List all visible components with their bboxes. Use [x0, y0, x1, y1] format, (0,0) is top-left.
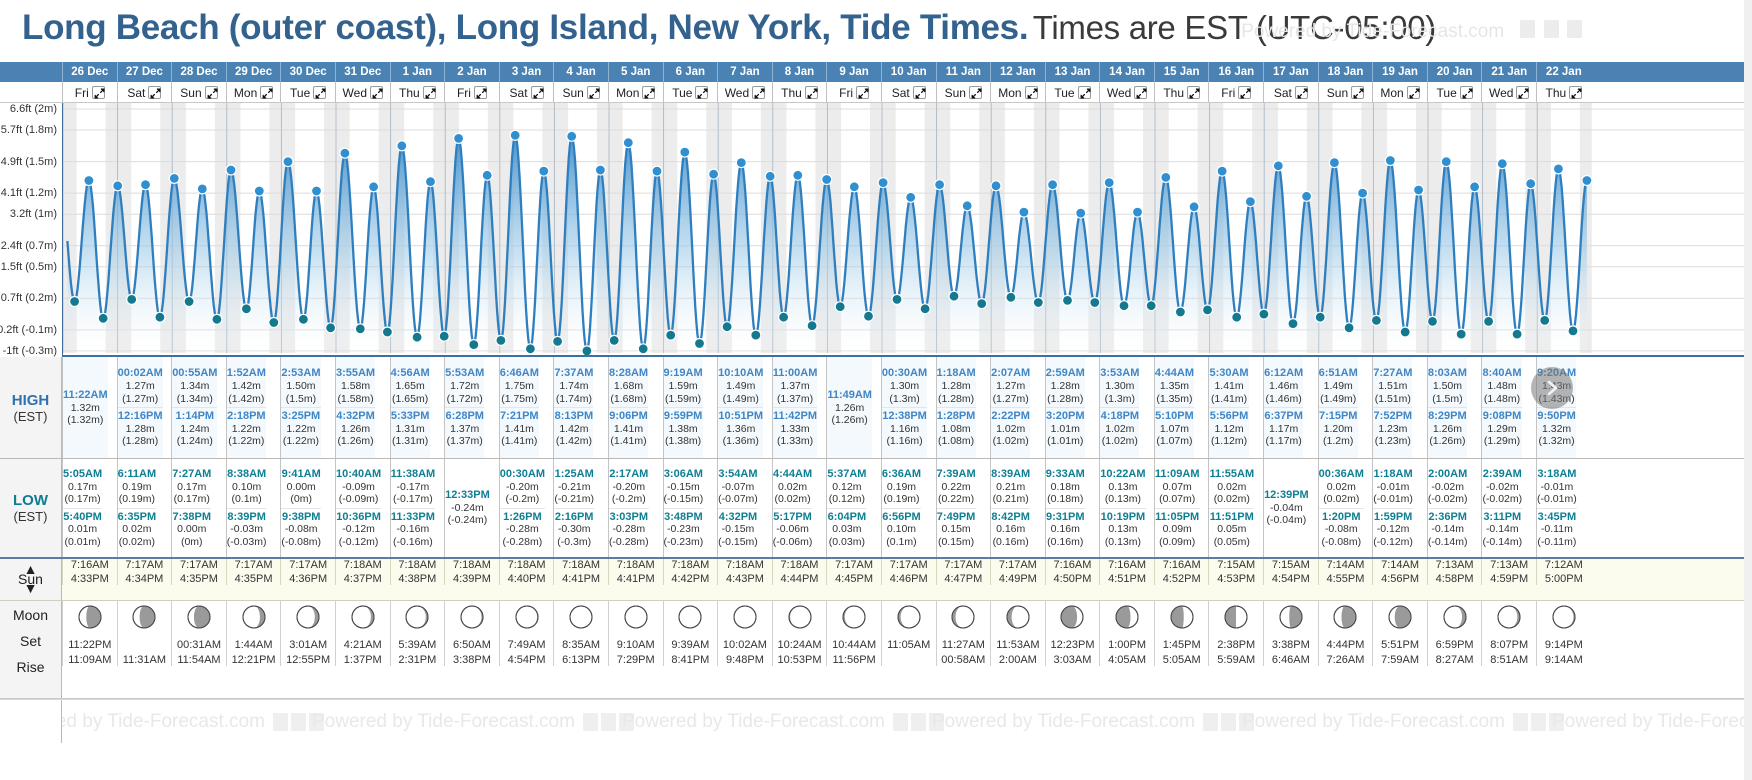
- date-header-cell[interactable]: 21 Jan: [1481, 62, 1536, 82]
- date-header-cell[interactable]: 10 Jan: [881, 62, 936, 82]
- expand-icon[interactable]: [92, 86, 105, 99]
- chart-y-tick-label: 5.7ft (1.8m): [1, 124, 57, 136]
- weekday-label: Tue: [290, 86, 310, 100]
- moon-phase-icon: [515, 605, 539, 629]
- expand-icon[interactable]: [1407, 86, 1420, 99]
- date-header-cell[interactable]: 27 Dec: [117, 62, 172, 82]
- low-tide-cell[interactable]: 2:39AM-0.02m(-0.02m)3:11PM-0.14m(-0.14m): [1481, 459, 1522, 557]
- weekday-label: Mon: [998, 86, 1021, 100]
- sun-cell: 7:18AM4:42PM: [663, 559, 718, 585]
- moon-phase-icon: [1224, 605, 1248, 629]
- high-tide-time: 00:02AM: [118, 367, 163, 380]
- date-header-cell[interactable]: 29 Dec: [226, 62, 281, 82]
- moonset-time: 9:14PM: [1545, 639, 1583, 651]
- high-tide-height: 1.28m: [118, 423, 163, 435]
- high-tide-cell[interactable]: 11:22AM1.32m(1.32m): [62, 357, 108, 458]
- weekday-label: Wed: [343, 86, 367, 100]
- high-column: 11:22AM1.32m(1.32m): [62, 357, 117, 458]
- low-tide-entry: 11:09AM0.07m(0.07m): [1155, 466, 1200, 508]
- expand-icon[interactable]: [1516, 86, 1529, 99]
- footer-watermark-text: Powered by Tide-Forecast.com: [932, 711, 1195, 733]
- expand-icon[interactable]: [1134, 86, 1147, 99]
- moon-phase-icon: [897, 605, 921, 629]
- expand-icon[interactable]: [695, 86, 708, 99]
- low-tide-entry: 9:38PM-0.08m(-0.08m): [281, 508, 321, 551]
- low-tide-height-alt: (-0.01m): [1373, 493, 1413, 505]
- weekday-header-cell[interactable]: Mon: [1372, 82, 1427, 102]
- high-tide-entry: 11:00AM1.37m(1.37m): [773, 365, 818, 407]
- high-tide-time: 5:53AM: [445, 367, 484, 380]
- low-tide-height-alt: (0m): [172, 536, 211, 548]
- high-tide-time: 10:10AM: [718, 367, 763, 380]
- sun-cell: 7:14AM4:56PM: [1372, 559, 1427, 585]
- expand-icon[interactable]: [423, 86, 436, 99]
- weekday-header-cell[interactable]: Fri: [444, 82, 499, 102]
- high-tide-time: 1:14PM: [172, 410, 217, 423]
- expand-icon[interactable]: [370, 86, 383, 99]
- high-tide-time: 1:28PM: [937, 410, 976, 423]
- weekday-column: Wed: [335, 82, 390, 102]
- low-tide-cell[interactable]: 6:36AM0.19m(0.19m)6:56PM0.10m(0.1m): [881, 459, 921, 557]
- low-tide-cell[interactable]: 00:36AM0.02m(0.02m)1:20PM-0.08m(-0.08m): [1318, 459, 1364, 557]
- moonset-time: 4:21AM: [344, 639, 382, 651]
- moon-phase-icon: [405, 605, 429, 629]
- expand-icon[interactable]: [642, 86, 655, 99]
- sun-cell: 7:18AM4:38PM: [390, 559, 445, 585]
- weekday-header-cell[interactable]: Fri: [62, 82, 117, 102]
- footer-watermark-text: Powered by Tide-Forecast.com: [622, 711, 885, 733]
- weekday-header-cell[interactable]: Sat: [1263, 82, 1318, 102]
- expand-icon[interactable]: [148, 86, 161, 99]
- weekday-label: Tue: [1054, 86, 1074, 100]
- high-tide-entry: 9:50PM1.32m(1.32m): [1537, 407, 1576, 450]
- moon-phase-icon: [733, 605, 757, 629]
- high-tide-time: 4:18PM: [1100, 410, 1139, 423]
- weekday-column: Sun: [936, 82, 991, 102]
- sun-cell: 7:17AM4:36PM: [280, 559, 335, 585]
- sun-column: 7:14AM4:55PM: [1318, 559, 1373, 600]
- date-header-cell[interactable]: 22 Jan: [1536, 62, 1591, 82]
- high-tide-cell[interactable]: 7:37AM1.74m(1.74m)8:13PM1.42m(1.42m): [553, 357, 593, 458]
- expand-icon[interactable]: [1187, 86, 1200, 99]
- low-tide-height-alt: (-0.2m): [609, 493, 649, 505]
- moon-cell: 6:59PM8:27AM: [1427, 601, 1482, 666]
- low-tide-entry: 9:31PM0.16m(0.16m): [1046, 508, 1085, 551]
- low-tide-entry: 3:11PM-0.14m(-0.14m): [1482, 508, 1522, 551]
- expand-icon[interactable]: [587, 86, 600, 99]
- sun-cell: 7:17AM4:46PM: [881, 559, 936, 585]
- high-tide-height: 1.20m: [1319, 423, 1358, 435]
- date-header-cell[interactable]: 1 Jan: [390, 62, 445, 82]
- low-tide-height: -0.01m: [1537, 481, 1577, 493]
- high-tide-time: 11:42PM: [773, 410, 818, 423]
- low-tide-height: -0.12m: [336, 523, 381, 535]
- moon-phase-icon: [842, 605, 866, 629]
- weekday-header-cell[interactable]: Wed: [1481, 82, 1536, 102]
- moon-cell: 6:50AM3:38PM: [444, 601, 499, 666]
- low-tide-cell[interactable]: 2:17AM-0.20m(-0.2m)3:03PM-0.28m(-0.28m): [608, 459, 649, 557]
- expand-icon[interactable]: [1569, 86, 1582, 99]
- high-tide-height: 1.26m: [827, 402, 872, 414]
- date-header-cell[interactable]: 18 Jan: [1318, 62, 1373, 82]
- high-tide-height: 1.36m: [718, 423, 763, 435]
- low-tide-height: 0.00m: [172, 523, 211, 535]
- low-tide-cell[interactable]: 8:38AM0.10m(0.1m)8:39PM-0.03m(-0.03m): [226, 459, 267, 557]
- low-tide-height: 0.12m: [827, 481, 866, 493]
- expand-icon[interactable]: [205, 86, 218, 99]
- weekday-label: Thu: [781, 86, 802, 100]
- moonrise-time: 8:41PM: [671, 654, 709, 666]
- weekday-header-cell[interactable]: Sun: [1318, 82, 1373, 102]
- high-tide-cell[interactable]: 8:28AM1.68m(1.68m)9:06PM1.41m(1.41m): [608, 357, 648, 458]
- weekday-header-cell[interactable]: Thu: [390, 82, 445, 102]
- date-header-cell[interactable]: 13 Jan: [1045, 62, 1100, 82]
- weekday-header-cell[interactable]: Wed: [717, 82, 772, 102]
- chart-y-tick-label: -0.2ft (-0.1m): [0, 324, 57, 336]
- date-header-cell[interactable]: 12 Jan: [990, 62, 1045, 82]
- weekday-header-cell[interactable]: Sat: [881, 82, 936, 102]
- date-header-cell[interactable]: 20 Jan: [1427, 62, 1482, 82]
- sunrise-time: 7:18AM: [671, 559, 709, 571]
- low-tide-height-alt: (-0.3m): [554, 536, 594, 548]
- sunrise-time: 7:17AM: [180, 559, 218, 571]
- moon-column: 9:14PM9:14AM: [1536, 601, 1591, 698]
- low-tide-cell[interactable]: 1:25AM-0.21m(-0.21m)2:16PM-0.30m(-0.3m): [553, 459, 594, 557]
- moon-phase-icon: [78, 605, 102, 629]
- high-tide-time: 6:28PM: [445, 410, 484, 423]
- sun-cell: 7:15AM4:54PM: [1263, 559, 1318, 585]
- high-tide-height-alt: (1.38m): [664, 435, 703, 447]
- moon-column: 1:00PM4:05AM: [1099, 601, 1154, 698]
- date-header-cell[interactable]: 4 Jan: [553, 62, 608, 82]
- weekday-header-cell[interactable]: Sat: [117, 82, 172, 102]
- high-tide-cell[interactable]: 9:19AM1.59m(1.59m)9:59PM1.38m(1.38m): [663, 357, 703, 458]
- low-column: 8:38AM0.10m(0.1m)8:39PM-0.03m(-0.03m): [226, 459, 281, 557]
- high-tide-cell[interactable]: 11:49AM1.26m(1.26m): [826, 357, 872, 458]
- high-tide-height: 1.59m: [664, 380, 703, 392]
- high-tide-cell[interactable]: 1:52AM1.42m(1.42m)2:18PM1.22m(1.22m): [226, 357, 266, 458]
- high-tide-cell[interactable]: 1:18AM1.28m(1.28m)1:28PM1.08m(1.08m): [936, 357, 976, 458]
- moon-cell: 4:21AM1:37PM: [335, 601, 390, 666]
- weekday-header-cell[interactable]: Fri: [1208, 82, 1263, 102]
- low-tide-cell[interactable]: 3:18AM-0.01m(-0.01m)3:45PM-0.11m(-0.11m): [1536, 459, 1577, 557]
- low-column: 1:25AM-0.21m(-0.21m)2:16PM-0.30m(-0.3m): [553, 459, 608, 557]
- high-tide-cell[interactable]: 2:59AM1.28m(1.28m)3:20PM1.01m(1.01m): [1045, 357, 1085, 458]
- weekday-header-cell[interactable]: Sat: [499, 82, 554, 102]
- high-tide-entry: 9:59PM1.38m(1.38m): [664, 407, 703, 450]
- high-tide-cell[interactable]: 6:51AM1.49m(1.49m)7:15PM1.20m(1.2m): [1318, 357, 1358, 458]
- high-tide-time: 6:46AM: [500, 367, 539, 380]
- weekday-header-cell[interactable]: Sun: [171, 82, 226, 102]
- low-tide-height-alt: (0.02m): [1319, 493, 1364, 505]
- weekday-header-cell[interactable]: Sun: [553, 82, 608, 102]
- date-header-cell[interactable]: 14 Jan: [1099, 62, 1154, 82]
- high-tide-cell[interactable]: 5:30AM1.41m(1.41m)5:56PM1.12m(1.12m): [1208, 357, 1248, 458]
- moonrise-time: 5:05AM: [1163, 654, 1201, 666]
- moon-column: 00:31AM11:54AM: [171, 601, 226, 698]
- moon-column: 1:45PM5:05AM: [1154, 601, 1209, 698]
- date-header-cell[interactable]: 2 Jan: [444, 62, 499, 82]
- high-tide-time: 2:59AM: [1046, 367, 1085, 380]
- sunset-time: 4:51PM: [1108, 573, 1146, 585]
- moon-phase-wrap: [788, 605, 812, 632]
- high-tide-entry: 2:22PM1.02m(1.02m): [991, 407, 1030, 450]
- expand-icon[interactable]: [805, 86, 818, 99]
- low-tide-entry: 7:49PM0.15m(0.15m): [937, 508, 976, 551]
- sunset-time: 4:44PM: [781, 573, 819, 585]
- low-tide-cell[interactable]: 10:40AM-0.09m(-0.09m)10:36PM-0.12m(-0.12…: [335, 459, 381, 557]
- weekday-header-cell[interactable]: Thu: [1536, 82, 1591, 102]
- low-tide-entry: 5:37AM0.12m(0.12m): [827, 466, 866, 508]
- weekday-header-cell[interactable]: Mon: [226, 82, 281, 102]
- weekday-header-cell[interactable]: Sun: [936, 82, 991, 102]
- high-tide-height-alt: (1.17m): [1264, 435, 1303, 447]
- date-header-cell[interactable]: 8 Jan: [772, 62, 827, 82]
- expand-icon[interactable]: [1078, 86, 1091, 99]
- high-column: 11:00AM1.37m(1.37m)11:42PM1.33m(1.33m): [772, 357, 827, 458]
- moon-phase-wrap: [187, 605, 211, 632]
- low-tide-cell[interactable]: 3:54AM-0.07m(-0.07m)4:32PM-0.15m(-0.15m): [717, 459, 758, 557]
- moon-phase-wrap: [1279, 605, 1303, 632]
- high-tide-height-alt: (1.36m): [718, 435, 763, 447]
- sun-cells: 7:16AM4:33PM7:17AM4:34PM7:17AM4:35PM7:17…: [62, 559, 1752, 600]
- sun-column: 7:17AM4:45PM: [826, 559, 881, 600]
- high-tide-cell[interactable]: 2:53AM1.50m(1.5m)3:25PM1.22m(1.22m): [280, 357, 320, 458]
- moon-phase-wrap: [733, 605, 757, 632]
- moonrise-time: 11:56PM: [833, 654, 876, 666]
- sun-cell: 7:17AM4:35PM: [226, 559, 281, 585]
- high-tide-cell[interactable]: 00:55AM1.34m(1.34m)1:14PM1.24m(1.24m): [171, 357, 217, 458]
- high-tide-cell[interactable]: 00:02AM1.27m(1.27m)12:16PM1.28m(1.28m): [117, 357, 163, 458]
- weekday-header-cell[interactable]: Thu: [772, 82, 827, 102]
- low-tide-cell[interactable]: 11:09AM0.07m(0.07m)11:05PM0.09m(0.09m): [1154, 459, 1200, 557]
- low-tide-cell[interactable]: 6:11AM0.19m(0.19m)6:35PM0.02m(0.02m): [117, 459, 157, 557]
- moonrise-time: 4:54PM: [508, 654, 546, 666]
- high-tide-height-alt: (1.49m): [1319, 393, 1358, 405]
- moonset-time: 10:44AM: [832, 639, 876, 651]
- moon-cell: 12:23PM3:03AM: [1045, 601, 1100, 666]
- moon-cell: 11:53AM2:00AM: [990, 601, 1045, 666]
- moon-cell: 8:35AM6:13PM: [553, 601, 608, 666]
- high-tide-entry: 1:18AM1.28m(1.28m): [937, 365, 976, 407]
- weekday-header-cell[interactable]: Wed: [335, 82, 390, 102]
- date-header-cell[interactable]: 16 Jan: [1208, 62, 1263, 82]
- high-tide-cell[interactable]: 2:07AM1.27m(1.27m)2:22PM1.02m(1.02m): [990, 357, 1030, 458]
- high-tide-height-alt: (1.41m): [609, 435, 648, 447]
- low-tide-cell[interactable]: 9:41AM0.00m(0m)9:38PM-0.08m(-0.08m): [280, 459, 321, 557]
- low-tide-cell[interactable]: 9:33AM0.18m(0.18m)9:31PM0.16m(0.16m): [1045, 459, 1085, 557]
- moonset-time: [143, 639, 146, 651]
- sun-column: 7:17AM4:35PM: [171, 559, 226, 600]
- high-tide-height: 1.23m: [1373, 423, 1412, 435]
- expand-icon[interactable]: [1460, 86, 1473, 99]
- moon-phase-icon: [1006, 605, 1030, 629]
- high-tide-cell[interactable]: 10:10AM1.49m(1.49m)10:51PM1.36m(1.36m): [717, 357, 763, 458]
- date-header-cell[interactable]: 30 Dec: [280, 62, 335, 82]
- watermark-badge-icon: [1544, 20, 1559, 38]
- high-tide-cell[interactable]: 3:53AM1.30m(1.3m)4:18PM1.02m(1.02m): [1099, 357, 1139, 458]
- date-header-cell[interactable]: 28 Dec: [171, 62, 226, 82]
- date-header-cell[interactable]: 3 Jan: [499, 62, 554, 82]
- weekday-header-cell[interactable]: Mon: [608, 82, 663, 102]
- high-tide-entry: 2:59AM1.28m(1.28m): [1046, 365, 1085, 407]
- low-tide-cell[interactable]: 5:05AM0.17m(0.17m)5:40PM0.01m(0.01m): [62, 459, 102, 557]
- date-column: 4 Jan: [553, 62, 608, 82]
- date-header-cell[interactable]: 15 Jan: [1154, 62, 1209, 82]
- date-header-cell[interactable]: 7 Jan: [717, 62, 772, 82]
- date-header-cell[interactable]: 31 Dec: [335, 62, 390, 82]
- expand-icon[interactable]: [1025, 86, 1038, 99]
- weekday-label: Sat: [1274, 86, 1292, 100]
- low-tide-cell[interactable]: 5:37AM0.12m(0.12m)6:04PM0.03m(0.03m): [826, 459, 866, 557]
- low-tide-time: 5:37AM: [827, 468, 866, 481]
- expand-icon[interactable]: [1351, 86, 1364, 99]
- sunrise-time: 7:16AM: [1163, 559, 1201, 571]
- low-tide-height: 0.17m: [172, 481, 211, 493]
- low-tide-time: 7:49PM: [937, 511, 976, 524]
- high-tide-height: 1.37m: [445, 423, 484, 435]
- moon-phase-wrap: [405, 605, 429, 632]
- expand-icon[interactable]: [1295, 86, 1308, 99]
- high-tide-entry: 4:44AM1.35m(1.35m): [1155, 365, 1194, 407]
- low-tide-entry: 2:36PM-0.14m(-0.14m): [1428, 508, 1468, 551]
- high-tide-height-alt: (1.75m): [500, 393, 539, 405]
- weekday-header-cell[interactable]: Thu: [1154, 82, 1209, 102]
- high-tide-height-alt: (1.26m): [827, 414, 872, 426]
- high-tide-time: 5:30AM: [1209, 367, 1248, 380]
- low-tide-entry: 12:33PM-0.24m(-0.24m): [445, 487, 490, 529]
- expand-icon[interactable]: [1238, 86, 1251, 99]
- high-tide-height-alt: (1.5m): [281, 393, 320, 405]
- moon-phase-wrap: [624, 605, 648, 632]
- date-header-cell[interactable]: 6 Jan: [663, 62, 718, 82]
- weekday-column: Mon: [608, 82, 663, 102]
- moon-cells: 11:22PM11:09AM 11:31AM 00:31AM11:54AM 1:…: [62, 601, 1752, 698]
- weekday-header-cell[interactable]: Mon: [990, 82, 1045, 102]
- low-tide-cell[interactable]: 1:18AM-0.01m(-0.01m)1:59PM-0.12m(-0.12m): [1372, 459, 1413, 557]
- low-tide-cell[interactable]: 11:55AM0.02m(0.02m)11:51PM0.05m(0.05m): [1208, 459, 1254, 557]
- high-tide-cell[interactable]: 8:03AM1.50m(1.5m)8:29PM1.26m(1.26m): [1427, 357, 1467, 458]
- moon-cell: 11:31AM: [117, 601, 172, 666]
- high-tide-cell[interactable]: 7:27AM1.51m(1.51m)7:52PM1.23m(1.23m): [1372, 357, 1412, 458]
- moon-column: 8:35AM6:13PM: [553, 601, 608, 698]
- date-header-cell[interactable]: 9 Jan: [826, 62, 881, 82]
- tide-curve-chart: 6.6ft (2m)5.7ft (1.8m)4.9ft (1.5m)4.1ft …: [0, 103, 1752, 357]
- low-tide-cell[interactable]: 2:00AM-0.02m(-0.02m)2:36PM-0.14m(-0.14m): [1427, 459, 1468, 557]
- high-tide-cell[interactable]: 8:40AM1.48m(1.48m)9:08PM1.29m(1.29m): [1481, 357, 1521, 458]
- sunrise-time: 7:18AM: [781, 559, 819, 571]
- high-tide-cell[interactable]: 11:00AM1.37m(1.37m)11:42PM1.33m(1.33m): [772, 357, 818, 458]
- date-header-cell[interactable]: 17 Jan: [1263, 62, 1318, 82]
- weekday-header-cell[interactable]: Tue: [663, 82, 718, 102]
- high-tide-height-alt: (1.3m): [882, 393, 927, 405]
- sun-cell: 7:16AM4:50PM: [1045, 559, 1100, 585]
- sunset-time: 4:49PM: [999, 573, 1037, 585]
- high-tide-entry: 4:32PM1.26m(1.26m): [336, 407, 375, 450]
- weekday-label: Wed: [1107, 86, 1131, 100]
- low-tide-cell[interactable]: 10:22AM0.13m(0.13m)10:19PM0.13m(0.13m): [1099, 459, 1145, 557]
- expand-icon[interactable]: [313, 86, 326, 99]
- weekday-header-cell[interactable]: Fri: [826, 82, 881, 102]
- low-tide-height: 0.21m: [991, 481, 1030, 493]
- low-tide-cell[interactable]: 8:39AM0.21m(0.21m)8:42PM0.16m(0.16m): [990, 459, 1030, 557]
- chart-y-tick-label: 4.1ft (1.2m): [1, 187, 57, 199]
- moon-cell: 8:07PM8:51AM: [1481, 601, 1536, 666]
- date-header-cell[interactable]: 5 Jan: [608, 62, 663, 82]
- low-column: 10:40AM-0.09m(-0.09m)10:36PM-0.12m(-0.12…: [335, 459, 390, 557]
- low-tide-cell[interactable]: 12:39PM-0.04m(-0.04m): [1263, 459, 1309, 557]
- date-header-cell[interactable]: 19 Jan: [1372, 62, 1427, 82]
- moon-cell: 1:45PM5:05AM: [1154, 601, 1209, 666]
- expand-icon[interactable]: [913, 86, 926, 99]
- moon-label-text: Moon: [13, 607, 48, 623]
- chart-plot-area[interactable]: [62, 103, 1752, 357]
- low-tide-label: LOW (EST): [0, 459, 62, 557]
- date-header-cell[interactable]: 26 Dec: [62, 62, 117, 82]
- high-tide-cell[interactable]: 6:12AM1.46m(1.46m)6:37PM1.17m(1.17m): [1263, 357, 1303, 458]
- low-tide-cell[interactable]: 12:33PM-0.24m(-0.24m): [444, 459, 490, 557]
- low-tide-cell[interactable]: 4:44AM0.02m(0.02m)5:17PM-0.06m(-0.06m): [772, 459, 813, 557]
- date-header-cells: 26 Dec27 Dec28 Dec29 Dec30 Dec31 Dec1 Ja…: [62, 62, 1752, 82]
- weekday-header-cell[interactable]: Tue: [280, 82, 335, 102]
- expand-icon[interactable]: [531, 86, 544, 99]
- date-header-cell[interactable]: 11 Jan: [936, 62, 991, 82]
- low-column: 00:30AM-0.20m(-0.2m)1:26PM-0.28m(-0.28m): [499, 459, 554, 557]
- high-tide-entry: 6:46AM1.75m(1.75m): [500, 365, 539, 407]
- sunset-time: 4:59PM: [1490, 573, 1528, 585]
- low-tide-height: -0.08m: [1319, 523, 1364, 535]
- high-tide-cell[interactable]: 4:56AM1.65m(1.65m)5:33PM1.31m(1.31m): [390, 357, 430, 458]
- weekday-column: Mon: [990, 82, 1045, 102]
- moon-cell: 4:44PM7:26AM: [1318, 601, 1373, 666]
- high-tide-cell[interactable]: 6:46AM1.75m(1.75m)7:21PM1.41m(1.41m): [499, 357, 539, 458]
- weekday-header-cell[interactable]: Tue: [1427, 82, 1482, 102]
- low-tide-cell[interactable]: 7:39AM0.22m(0.22m)7:49PM0.15m(0.15m): [936, 459, 976, 557]
- expand-icon[interactable]: [260, 86, 273, 99]
- next-page-button[interactable]: [1531, 367, 1573, 409]
- expand-icon[interactable]: [856, 86, 869, 99]
- expand-icon[interactable]: [969, 86, 982, 99]
- high-tide-cell[interactable]: 4:44AM1.35m(1.35m)5:10PM1.07m(1.07m): [1154, 357, 1194, 458]
- high-tide-cell[interactable]: 5:53AM1.72m(1.72m)6:28PM1.37m(1.37m): [444, 357, 484, 458]
- low-tide-entry: 7:38PM0.00m(0m): [172, 508, 211, 551]
- moonrise-time: 7:26AM: [1326, 654, 1364, 666]
- low-column: 6:11AM0.19m(0.19m)6:35PM0.02m(0.02m): [117, 459, 172, 557]
- low-tide-entry: 00:36AM0.02m(0.02m): [1319, 466, 1364, 508]
- weekday-column: Sat: [499, 82, 554, 102]
- expand-icon[interactable]: [752, 86, 765, 99]
- low-tide-cell[interactable]: 3:06AM-0.15m(-0.15m)3:48PM-0.23m(-0.23m): [663, 459, 704, 557]
- high-tide-entry: 00:02AM1.27m(1.27m): [118, 365, 163, 407]
- low-tide-cell[interactable]: 11:38AM-0.17m(-0.17m)11:33PM-0.16m(-0.16…: [390, 459, 436, 557]
- weekday-header-cell[interactable]: Wed: [1099, 82, 1154, 102]
- low-tide-entry: 11:51PM0.05m(0.05m): [1209, 508, 1254, 551]
- high-tide-cell[interactable]: 00:30AM1.30m(1.3m)12:38PM1.16m(1.16m): [881, 357, 927, 458]
- date-column: 3 Jan: [499, 62, 554, 82]
- page-scrollbar[interactable]: [1744, 0, 1752, 780]
- expand-icon[interactable]: [474, 86, 487, 99]
- high-tide-cell[interactable]: 3:55AM1.58m(1.58m)4:32PM1.26m(1.26m): [335, 357, 375, 458]
- weekday-column: Sun: [171, 82, 226, 102]
- high-tide-time: 9:06PM: [609, 410, 648, 423]
- low-tide-cell[interactable]: 7:27AM0.17m(0.17m)7:38PM0.00m(0m): [171, 459, 211, 557]
- low-tide-cell[interactable]: 00:30AM-0.20m(-0.2m)1:26PM-0.28m(-0.28m): [499, 459, 545, 557]
- moon-phase-icon: [569, 605, 593, 629]
- high-tide-time: 8:29PM: [1428, 410, 1467, 423]
- low-tide-height: 0.10m: [227, 481, 267, 493]
- high-tide-entry: 2:53AM1.50m(1.5m): [281, 365, 320, 407]
- weekday-header-cell[interactable]: Tue: [1045, 82, 1100, 102]
